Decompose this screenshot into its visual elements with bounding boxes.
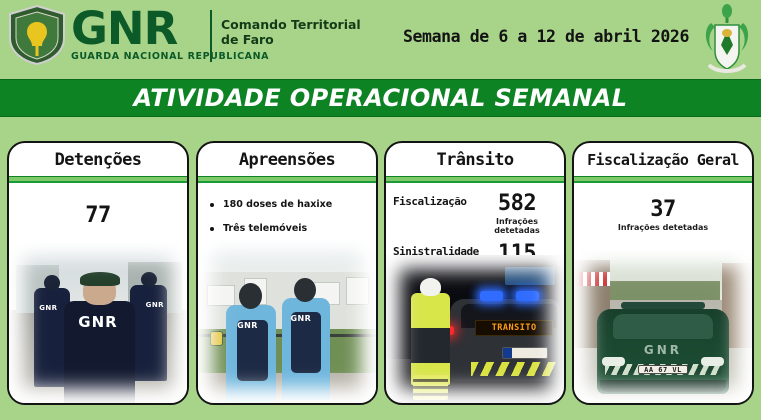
card-title: Detenções: [9, 143, 187, 176]
title-divider: [9, 176, 187, 183]
photo-three-officers: GNR GNR GNR: [9, 243, 187, 403]
photo-patrol-car-front: GNR AA 67 VL: [574, 251, 752, 403]
title-divider: [574, 176, 752, 183]
title-divider: [198, 176, 376, 183]
gnr-full-name: GUARDA NACIONAL REPUBLICANA: [71, 51, 269, 62]
command-line-2: de Faro: [221, 32, 361, 47]
stat-label: Fiscalização: [393, 191, 477, 208]
card-title: Trânsito: [386, 143, 564, 176]
card-transito[interactable]: Trânsito Fiscalização 582 Infrações dete…: [384, 141, 566, 405]
card-body: 37 Infrações detetadas GNR A: [574, 183, 752, 403]
photo-two-officers-viewpoint: GNR GNR: [198, 239, 376, 403]
faro-coat-of-arms-icon: [699, 3, 755, 75]
card-detencoes[interactable]: Detenções 77 GNR GNR GNR: [7, 141, 189, 405]
apreensoes-list: 180 doses de haxixe Três telemóveis: [208, 197, 376, 236]
cards-row: Detenções 77 GNR GNR GNR: [0, 141, 761, 409]
license-plate-text: AA 67 VL: [644, 366, 682, 374]
territorial-command: Comando Territorial de Faro: [221, 17, 361, 47]
card-body: 180 doses de haxixe Três telemóveis: [198, 183, 376, 403]
card-body: 77 GNR GNR GNR: [9, 183, 187, 403]
stat-caption: Infrações detetadas: [477, 217, 557, 235]
card-apreensoes[interactable]: Apreensões 180 doses de haxixe Três tele…: [196, 141, 378, 405]
detencoes-value: 77: [9, 203, 187, 228]
header: GNR GUARDA NACIONAL REPUBLICANA Comando …: [0, 0, 761, 79]
banner-title: ATIVIDADE OPERACIONAL SEMANAL: [134, 84, 628, 112]
card-title: Apreensões: [198, 143, 376, 176]
week-range-label: Semana de 6 a 12 de abril 2026: [396, 27, 696, 46]
list-item: 180 doses de haxixe: [208, 197, 376, 212]
gnr-shield-emblem-icon: [6, 4, 68, 66]
list-item: Três telemóveis: [208, 221, 376, 236]
card-body: Fiscalização 582 Infrações detetadas Sin…: [386, 183, 564, 403]
stat-value: 582: [477, 191, 557, 216]
photo-night-traffic-patrol: TRANSITO: [386, 255, 564, 403]
list-item-label: Três telemóveis: [223, 221, 307, 236]
command-line-1: Comando Territorial: [221, 17, 361, 32]
card-fiscalizacao-geral[interactable]: Fiscalização Geral 37 Infrações detetada…: [572, 141, 754, 405]
fiscalizacao-caption: Infrações detetadas: [574, 223, 752, 232]
card-title: Fiscalização Geral: [574, 143, 752, 176]
traffic-sign: TRANSITO: [475, 320, 553, 336]
stat-row-fiscalizacao: Fiscalização 582 Infrações detetadas: [393, 191, 557, 235]
bullet-dot-icon: [210, 227, 214, 231]
bullet-dot-icon: [210, 203, 214, 207]
traffic-sign-text: TRANSITO: [492, 323, 537, 333]
header-divider: [210, 10, 212, 62]
fiscalizacao-value: 37: [574, 197, 752, 222]
weekly-operational-activity-infographic: GNR GUARDA NACIONAL REPUBLICANA Comando …: [0, 0, 761, 420]
license-plate: AA 67 VL: [638, 365, 688, 374]
title-divider: [386, 176, 564, 183]
list-item-label: 180 doses de haxixe: [223, 197, 332, 212]
main-banner: ATIVIDADE OPERACIONAL SEMANAL: [0, 79, 761, 117]
